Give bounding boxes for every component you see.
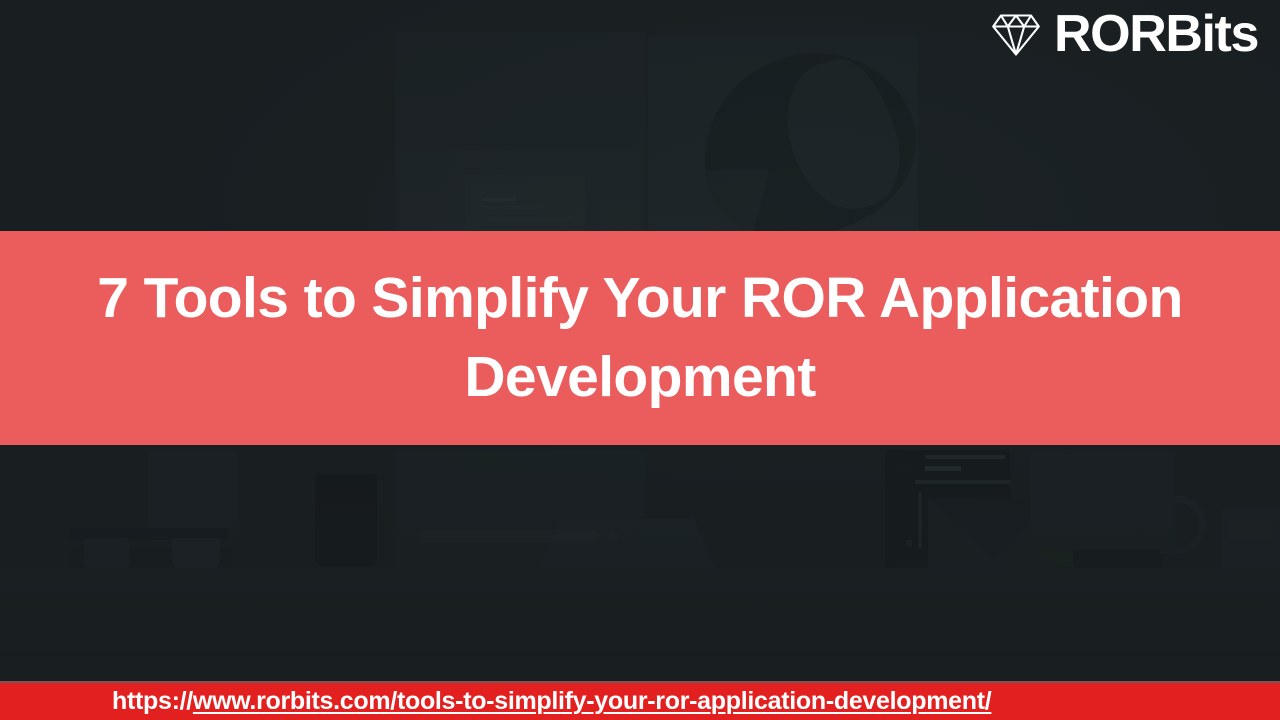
photo-screen-text-line bbox=[482, 198, 516, 201]
photo-eyeglasses-right-lens bbox=[172, 538, 220, 570]
url-path[interactable]: www.rorbits.com/tools-to-simplify-your-r… bbox=[193, 687, 991, 715]
photo-list-row bbox=[925, 455, 1005, 459]
photo-mouse bbox=[608, 532, 618, 540]
page-title: 7 Tools to Simplify Your ROR Application… bbox=[0, 259, 1280, 416]
photo-list-row bbox=[925, 466, 961, 471]
photo-screen-text-line bbox=[482, 206, 542, 209]
slide-canvas: RORBits 7 Tools to Simplify Your ROR App… bbox=[0, 0, 1280, 720]
headline-banner: 7 Tools to Simplify Your ROR Application… bbox=[0, 231, 1280, 445]
photo-eyeglasses-left-lens bbox=[84, 538, 130, 568]
brand-name: RORBits bbox=[1054, 8, 1258, 60]
photo-screen-text-line bbox=[482, 217, 572, 221]
url-bar[interactable]: https://www.rorbits.com/tools-to-simplif… bbox=[0, 681, 1280, 720]
url-text[interactable]: https://www.rorbits.com/tools-to-simplif… bbox=[0, 689, 991, 714]
photo-list-row bbox=[915, 480, 1010, 484]
photo-right-screen bbox=[1030, 450, 1175, 550]
photo-list-divider bbox=[918, 492, 922, 548]
photo-monitor-left-screen bbox=[465, 175, 585, 235]
photo-right-device-screen bbox=[1228, 520, 1274, 540]
brand-logo[interactable]: RORBits bbox=[990, 8, 1258, 60]
photo-desk-surface bbox=[0, 568, 1280, 681]
photo-keyboard-keys bbox=[420, 530, 600, 542]
photo-laptop-stand bbox=[540, 518, 715, 568]
photo-pen-cup bbox=[315, 474, 377, 566]
photo-list-bullet bbox=[906, 540, 912, 546]
url-scheme: https:// bbox=[112, 687, 193, 715]
diamond-gem-icon bbox=[990, 9, 1042, 59]
